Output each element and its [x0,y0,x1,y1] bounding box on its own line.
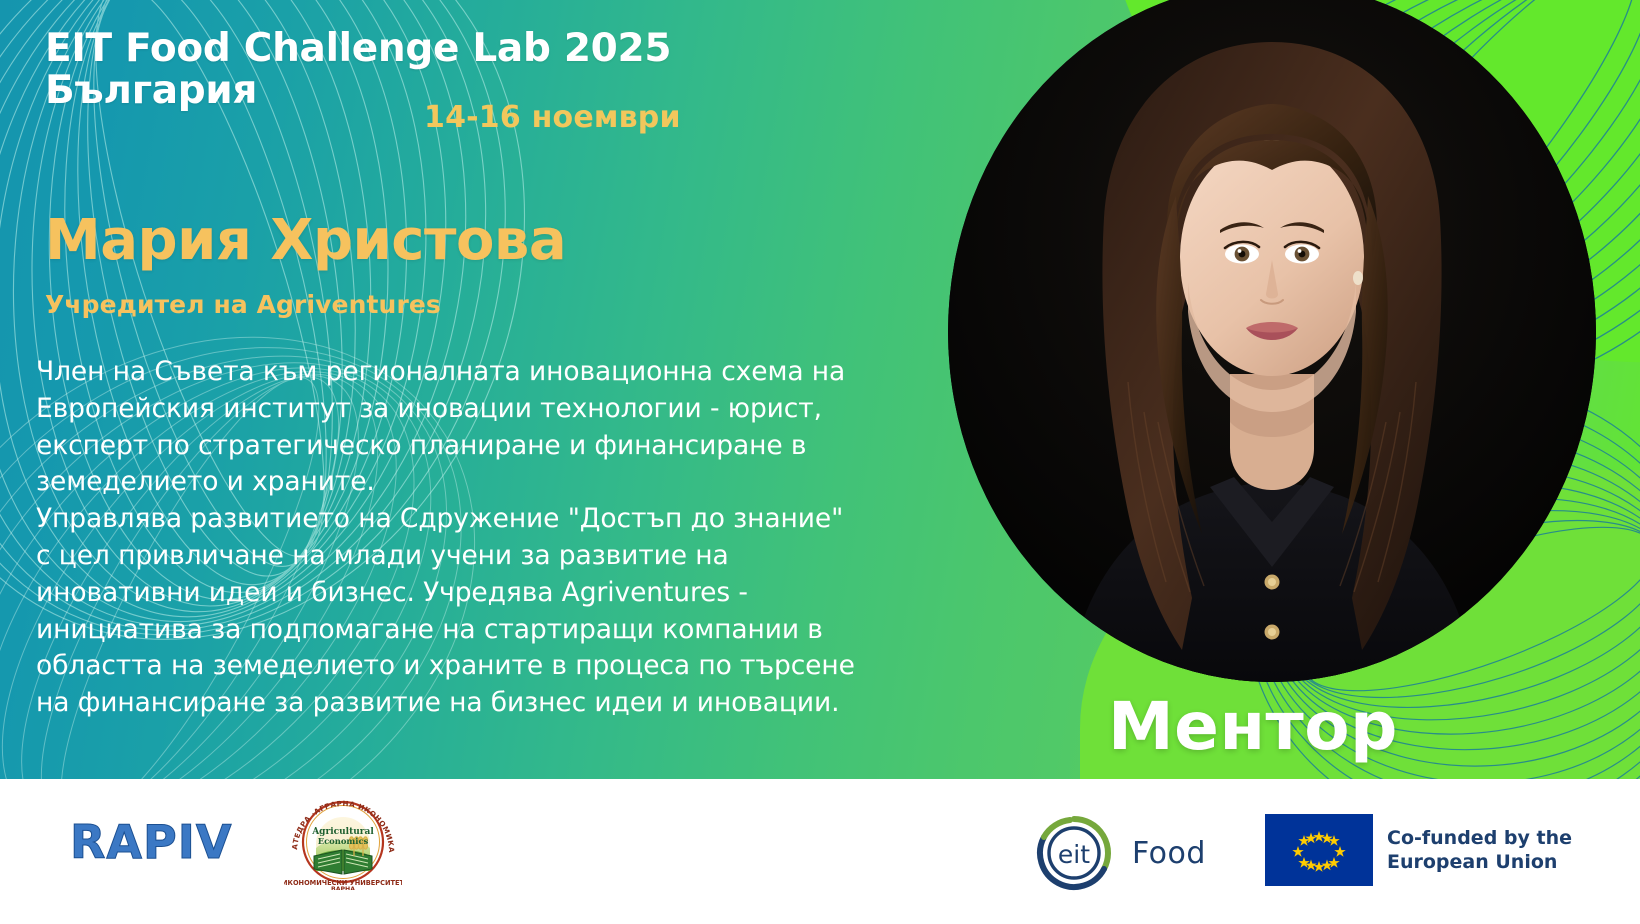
bio-line: Европейския институт за иновации техноло… [36,391,926,428]
gradient-background: EIT Food Challenge Lab 2025 България 14-… [0,0,1640,779]
bio-line: на финансиране за развитие на бизнес иде… [36,685,926,722]
eu-cofunded-text: Co-funded by the European Union [1387,826,1572,874]
speaker-portrait [948,0,1596,682]
mentor-badge: Ментор [1108,688,1398,765]
bio-line: Управлява развитието на Сдружение "Достъ… [36,501,926,538]
event-dates: 14-16 ноември [424,100,681,135]
university-seal-logo: КАТЕДРА ·АГРАРНА ИКОНОМИКА· [284,790,402,894]
speaker-poster: EIT Food Challenge Lab 2025 България 14-… [0,0,1640,924]
eu-text-line1: Co-funded by the [1387,826,1572,850]
speaker-bio: Член на Съвета към регионалната иновацио… [36,354,926,722]
seal-bottom-line2: ВАРНА [331,886,355,890]
eit-food-logo: eit Food [1030,809,1206,897]
bio-line: областта на земеделието и храните в проц… [36,648,926,685]
bio-line: Член на Съвета към регионалната иновацио… [36,354,926,391]
portrait-illustration [948,0,1596,682]
eu-text-line2: European Union [1387,850,1572,874]
bio-line: инициатива за подпомагане на стартиращи … [36,612,926,649]
eu-cofunded-logo: Co-funded by the European Union [1265,814,1572,886]
event-title-line1: EIT Food Challenge Lab 2025 [45,26,671,71]
eit-food-wordmark: Food [1132,836,1206,871]
rapiv-logo: RAPIV [70,815,232,869]
eit-circle-icon: eit [1030,809,1118,897]
speaker-role: Учредител на Agriventures [45,290,441,319]
speaker-name: Мария Христова [45,208,566,273]
bio-line: иновативни идеи и бизнес. Учредява Agriv… [36,575,926,612]
bio-line: земеделието и храните. [36,464,926,501]
bio-line: с цел привличане на млади учени за разви… [36,538,926,575]
bio-line: експерт по стратегическо планиране и фин… [36,428,926,465]
eu-flag-icon [1265,814,1373,886]
seal-title-en-line2: Economics [318,836,369,846]
eit-mark-text: eit [1058,840,1090,869]
